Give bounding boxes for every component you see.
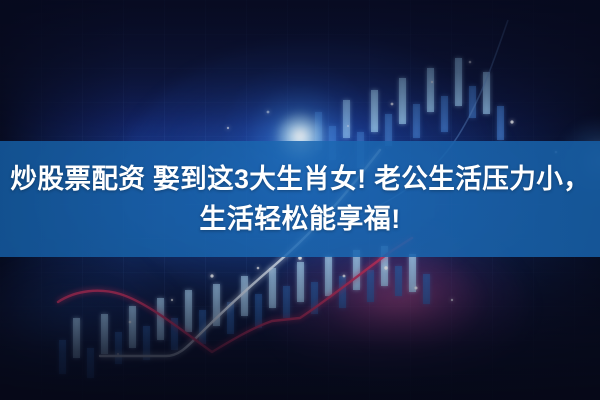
- headline-line-2: 生活轻松能享福!: [199, 200, 400, 238]
- headline-block: 炒股票配资 娶到这3大生肖女! 老公生活压力小， 生活轻松能享福!: [0, 141, 600, 257]
- headline-line-1: 炒股票配资 娶到这3大生肖女! 老公生活压力小，: [10, 160, 590, 198]
- banner-image: 炒股票配资 娶到这3大生肖女! 老公生活压力小， 生活轻松能享福!: [0, 0, 600, 400]
